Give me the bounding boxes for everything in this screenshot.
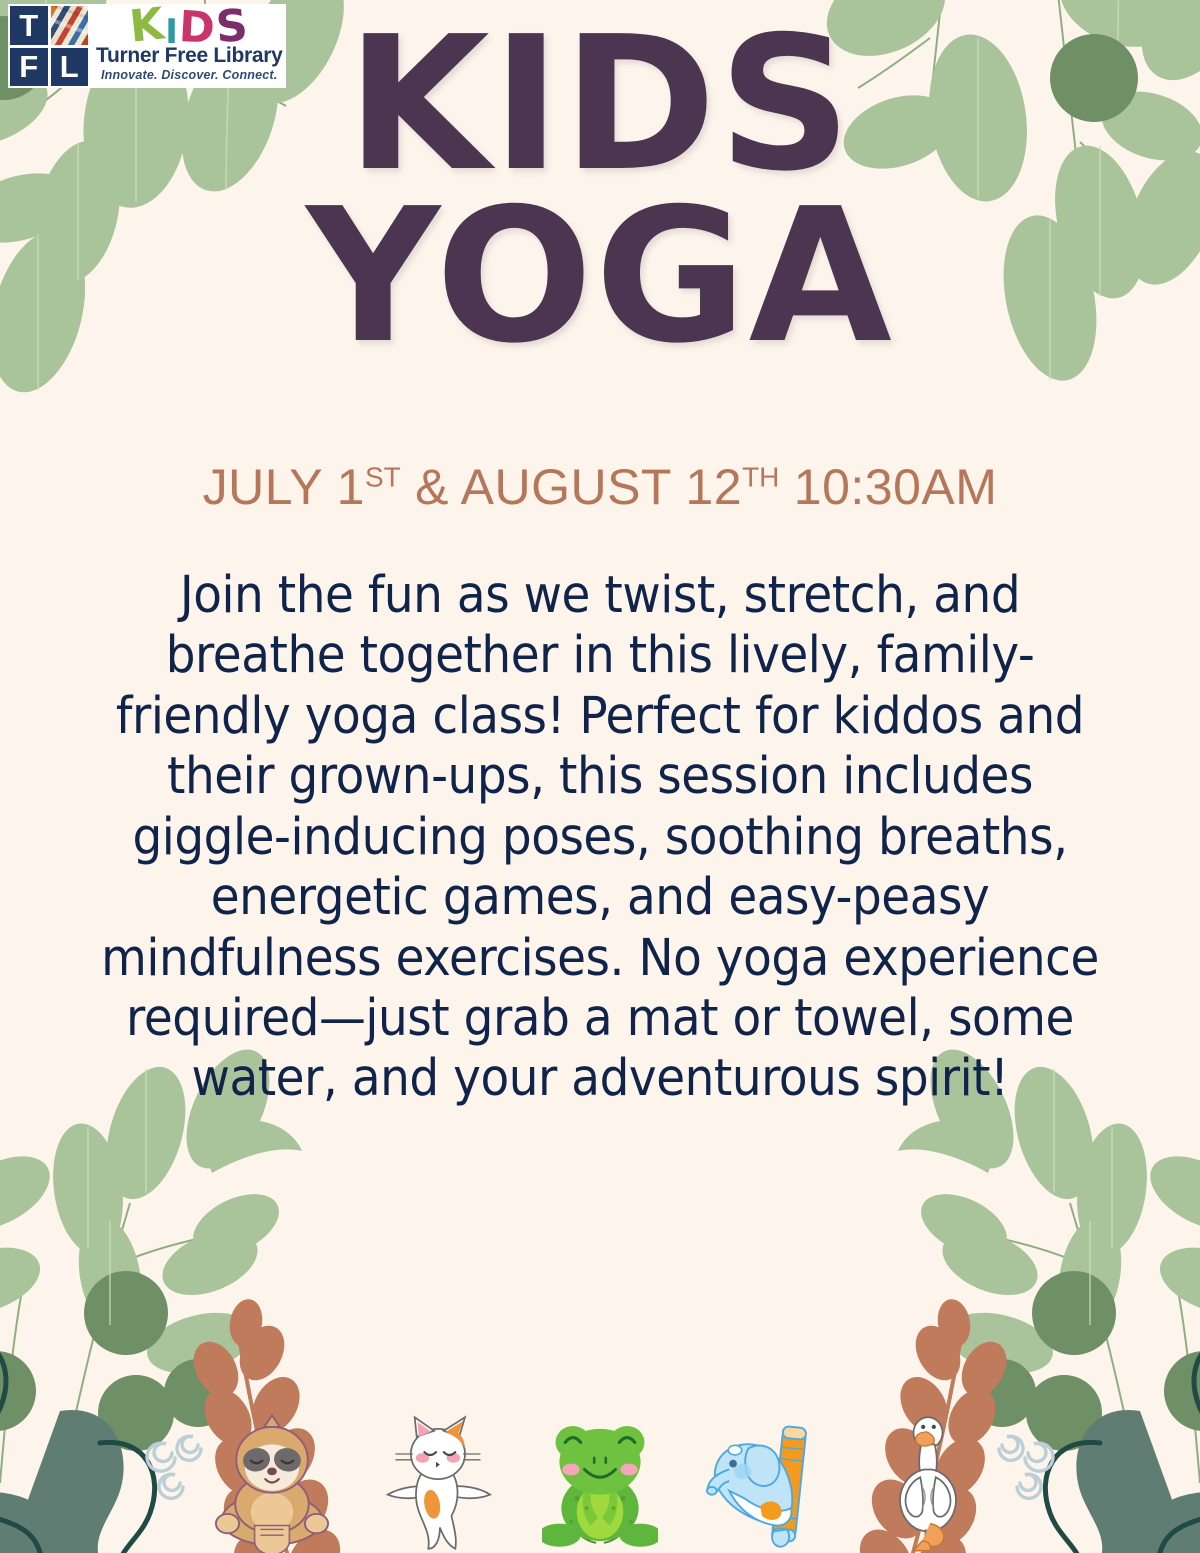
kids-brand-block: K I D S Turner Free Library Innovate. Di… [96,6,282,82]
date-second-ordinal: TH [742,461,779,492]
tfl-letter-f: F [10,48,48,87]
cat-warrior-pose-icon [378,1413,494,1553]
kids-letter-d: D [178,7,217,50]
tfl-logo-grid: T F L [10,6,88,86]
date-first-ordinal: ST [365,461,401,492]
kids-wordmark: K I D S [130,7,248,49]
date-first-part: JULY 1 [203,459,365,515]
yoga-animals-row [0,1403,1200,1553]
event-time: 10:30AM [779,459,997,515]
kids-letter-s: S [214,5,250,49]
library-logo-bar: T F L K I D S Turner Free Library Innova… [8,4,286,88]
library-tagline: Innovate. Discover. Connect. [101,68,277,82]
frog-prayer-pose-icon [542,1413,658,1553]
goose-tree-pose-icon [870,1413,986,1553]
poster-canvas: T F L K I D S Turner Free Library Innova… [0,0,1200,1553]
title-line-yoga: YOGA [0,190,1200,362]
event-description: Join the fun as we twist, stretch, and b… [85,566,1115,1110]
kids-letter-i: I [165,16,179,48]
tfl-letter-l: L [51,48,89,87]
elephant-with-mat-icon [706,1413,822,1553]
stacked-books-icon [51,6,89,45]
event-datetime: JULY 1ST & AUGUST 12TH 10:30AM [0,462,1200,512]
kids-letter-k: K [128,3,167,48]
sloth-lotus-pose-icon [214,1413,330,1553]
tfl-letter-t: T [10,6,48,45]
date-second-part: & AUGUST 12 [401,459,742,515]
